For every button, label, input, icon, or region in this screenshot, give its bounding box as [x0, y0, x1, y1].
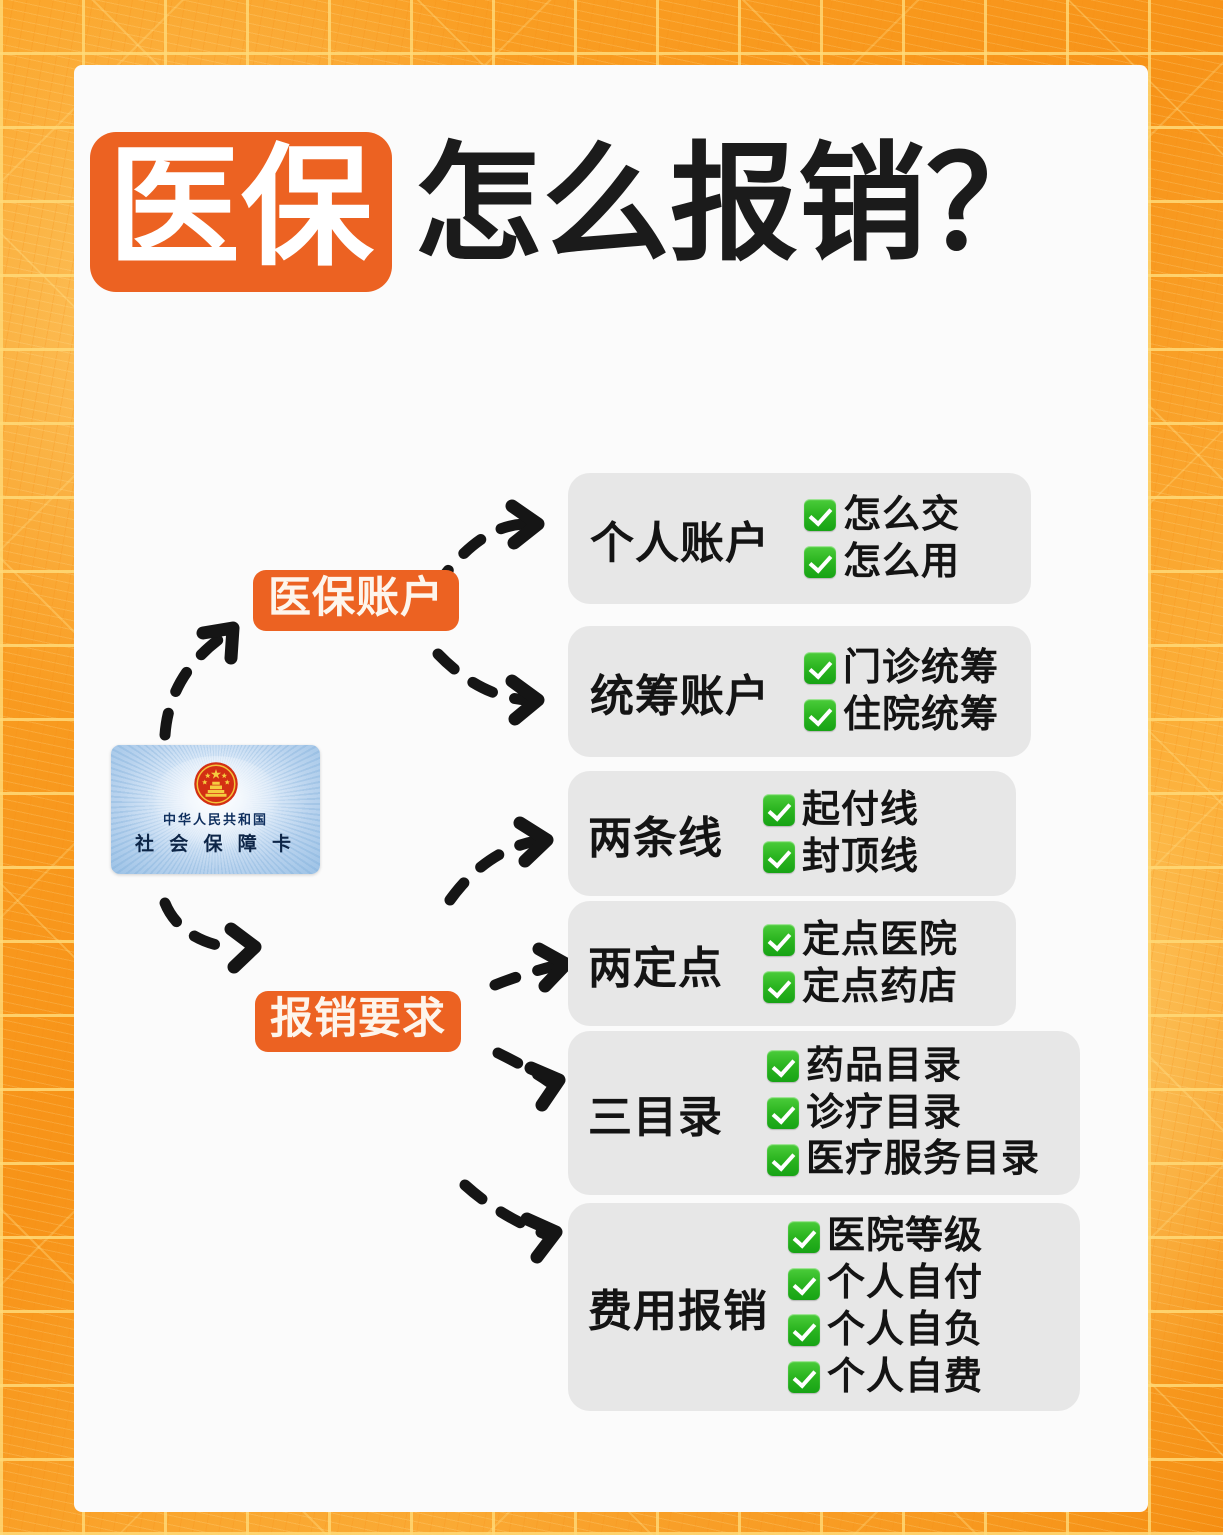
list-item: 个人自负 — [788, 1308, 983, 1353]
list-item: 门诊统筹 — [804, 646, 999, 691]
title-badge-yibao: 医保 — [90, 132, 392, 292]
list-item: 药品目录 — [767, 1044, 1040, 1089]
list-item: 住院统筹 — [804, 693, 999, 738]
green-check-icon — [788, 1221, 820, 1253]
green-check-icon — [788, 1268, 820, 1300]
green-check-icon — [804, 499, 836, 531]
green-check-icon — [763, 924, 795, 956]
topic-item-list: 药品目录 诊疗目录 医疗服务目录 — [767, 1044, 1040, 1182]
topic-item-list: 定点医院 定点药店 — [763, 918, 958, 1010]
topic-title: 两条线 — [588, 802, 723, 866]
topic-box-pooled-account[interactable]: 统筹账户 门诊统筹 住院统筹 — [568, 626, 1031, 757]
title-badge-label: 医保 — [108, 142, 374, 274]
topic-item-list: 起付线 封顶线 — [763, 788, 919, 880]
title-question-text: 怎么报销？ — [414, 141, 1054, 283]
list-item: 个人自付 — [788, 1261, 983, 1306]
list-item: 医院等级 — [788, 1214, 983, 1259]
topic-box-two-lines[interactable]: 两条线 起付线 封顶线 — [568, 771, 1016, 896]
topic-item-list: 门诊统筹 住院统筹 — [804, 646, 999, 738]
list-item: 定点药店 — [763, 965, 958, 1010]
list-item: 起付线 — [763, 788, 919, 833]
green-check-icon — [763, 841, 795, 873]
card-title-line: 社 会 保 障 卡 — [111, 829, 320, 856]
list-item: 定点医院 — [763, 918, 958, 963]
green-check-icon — [804, 546, 836, 578]
topic-title: 个人账户 — [590, 507, 770, 571]
green-check-icon — [767, 1050, 799, 1082]
green-check-icon — [804, 652, 836, 684]
green-check-icon — [767, 1097, 799, 1129]
topic-title: 费用报销 — [588, 1275, 768, 1339]
green-check-icon — [763, 794, 795, 826]
national-emblem-icon — [192, 760, 240, 808]
topic-title: 三目录 — [588, 1081, 723, 1145]
green-check-icon — [767, 1144, 799, 1176]
node-label-reimbursement-requirement[interactable]: 报销要求 — [255, 991, 461, 1052]
topic-box-three-catalogs[interactable]: 三目录 药品目录 诊疗目录 医疗服务目录 — [568, 1031, 1080, 1195]
node-label-text: 医保账户 — [268, 574, 444, 622]
card-country-line: 中华人民共和国 — [111, 809, 320, 828]
list-item: 封顶线 — [763, 835, 919, 880]
list-item: 怎么用 — [804, 540, 960, 585]
topic-item-list: 怎么交 怎么用 — [804, 493, 960, 585]
list-item: 医疗服务目录 — [767, 1137, 1040, 1182]
list-item: 怎么交 — [804, 493, 960, 538]
list-item: 诊疗目录 — [767, 1091, 1040, 1136]
green-check-icon — [804, 699, 836, 731]
node-label-yibao-account[interactable]: 医保账户 — [253, 570, 459, 631]
topic-title: 两定点 — [588, 932, 723, 996]
social-security-card-image: 中华人民共和国 社 会 保 障 卡 — [111, 745, 320, 874]
green-check-icon — [763, 971, 795, 1003]
green-check-icon — [788, 1361, 820, 1393]
topic-box-two-designated[interactable]: 两定点 定点医院 定点药店 — [568, 901, 1016, 1026]
topic-box-personal-account[interactable]: 个人账户 怎么交 怎么用 — [568, 473, 1031, 604]
list-item: 个人自费 — [788, 1355, 983, 1400]
topic-item-list: 医院等级 个人自付 个人自负 个人自费 — [788, 1214, 983, 1399]
green-check-icon — [788, 1314, 820, 1346]
page-title: 医保 怎么报销？ — [90, 132, 1054, 292]
topic-box-cost-reimbursement[interactable]: 费用报销 医院等级 个人自付 个人自负 个人自费 — [568, 1203, 1080, 1411]
topic-title: 统筹账户 — [590, 660, 770, 724]
node-label-text: 报销要求 — [270, 995, 446, 1043]
